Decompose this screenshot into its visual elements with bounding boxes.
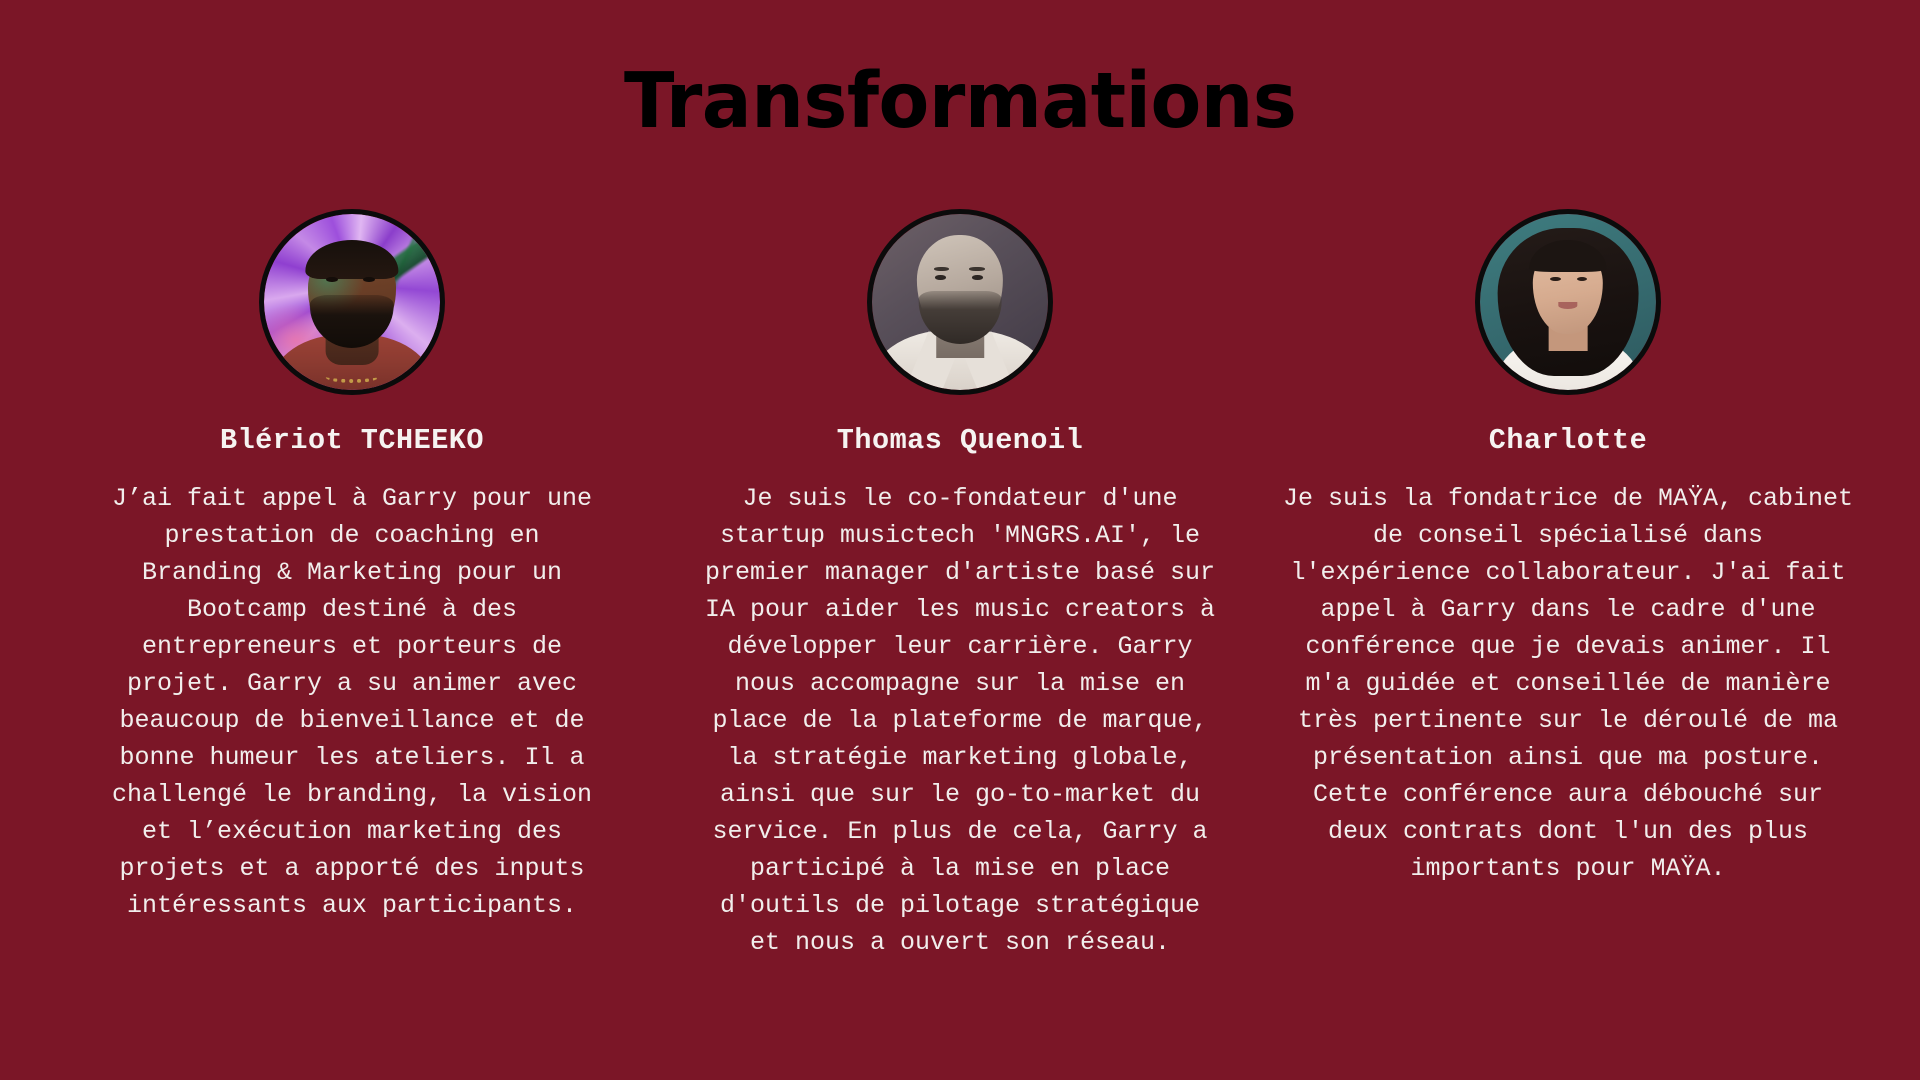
title-section: Transformations (0, 0, 1920, 143)
avatar (259, 209, 445, 395)
person-name: Thomas Quenoil (837, 424, 1083, 458)
testimonials-row: Blériot TCHEEKO J’ai fait appel à Garry … (0, 209, 1920, 961)
avatar (867, 209, 1053, 395)
portrait-bleriot-tcheeko-image (264, 214, 440, 390)
testimonial-card-1: Blériot TCHEEKO J’ai fait appel à Garry … (48, 209, 656, 924)
right-brow-shape (969, 267, 985, 272)
portrait-charlotte-image (1480, 214, 1656, 390)
testimonials-slide: Transformations Blériot TCHEEKO J’ai fa (0, 0, 1920, 1080)
left-eye-shape (935, 275, 946, 280)
testimonial-card-2: Thomas Quenoil Je suis le co-fondateur d… (656, 209, 1264, 961)
testimonial-card-3: Charlotte Je suis la fondatrice de MAŸA,… (1264, 209, 1872, 887)
portrait-thomas-quenoil-image (872, 214, 1048, 390)
testimonial-quote: J’ai fait appel à Garry pour une prestat… (102, 480, 602, 924)
testimonial-quote: Je suis le co-fondateur d'une startup mu… (698, 480, 1223, 961)
page-title: Transformations (624, 62, 1296, 143)
right-eye-shape (972, 275, 983, 280)
testimonial-quote: Je suis la fondatrice de MAŸA, cabinet d… (1278, 480, 1858, 887)
avatar (1475, 209, 1661, 395)
person-name: Charlotte (1489, 424, 1647, 458)
person-name: Blériot TCHEEKO (220, 424, 484, 458)
